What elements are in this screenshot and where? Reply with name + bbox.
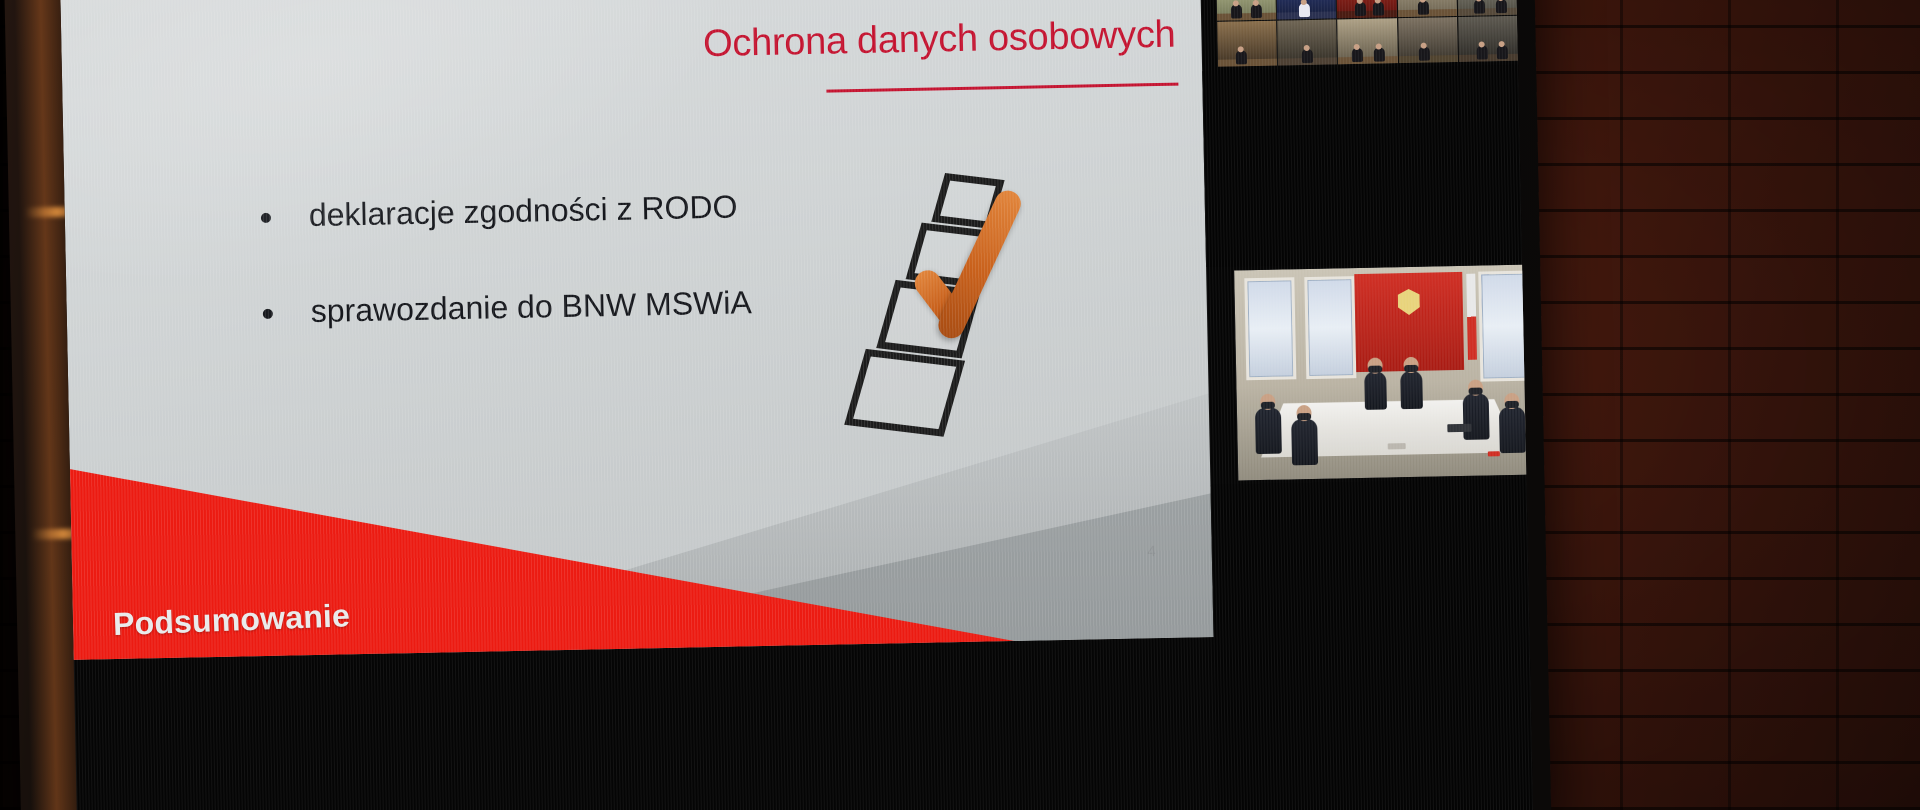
tile-person: [1299, 2, 1310, 16]
slide-title: Ochrona danych osobowych: [703, 14, 1176, 66]
bullet-point-icon: [263, 309, 273, 319]
participant-thumbnail-grid[interactable]: [1216, 0, 1518, 67]
tile-person: [1236, 50, 1247, 64]
face-mask-icon: [1505, 401, 1519, 408]
seated-officer: [1364, 371, 1387, 409]
tile-person: [1352, 48, 1363, 62]
seated-officer: [1499, 407, 1526, 454]
tile-head: [1253, 0, 1259, 6]
title-underline-rule: [826, 83, 1178, 93]
tile-person: [1355, 1, 1366, 15]
document-on-table: [1388, 443, 1406, 449]
list-item: sprawozdanie do BNW MSWiA: [262, 280, 883, 332]
participant-tile[interactable]: [1216, 0, 1276, 20]
list-item: deklaracje zgodności z RODO: [260, 184, 881, 236]
slide-number: 4: [1147, 543, 1156, 560]
seated-officer: [1291, 419, 1318, 466]
seated-officer: [1400, 371, 1423, 409]
seated-officer: [1255, 408, 1282, 455]
presentation-slide[interactable]: Ochrona danych osobowych deklaracje zgod…: [60, 0, 1215, 660]
face-mask-icon: [1297, 413, 1311, 420]
tile-person: [1302, 49, 1313, 63]
tile-head: [1478, 41, 1484, 47]
checkbox-outline-icon: [844, 349, 965, 437]
face-mask-icon: [1368, 366, 1382, 373]
participant-tile[interactable]: [1277, 19, 1337, 66]
face-mask-icon: [1469, 388, 1483, 395]
rail-empty-area-upper: [1202, 65, 1526, 267]
tile-person: [1476, 45, 1487, 59]
bullet-point-icon: [261, 213, 271, 223]
tile-desk: [1337, 10, 1396, 18]
display-screen: Ochrona danych osobowych deklaracje zgod…: [60, 0, 1533, 810]
tile-person: [1373, 1, 1384, 15]
bullet-label: deklaracje zgodności z RODO: [308, 186, 737, 235]
tile-desk: [1458, 7, 1517, 15]
participant-tile[interactable]: [1458, 15, 1518, 62]
checklist-checkmark-icon: [843, 158, 1111, 435]
laptop-icon: [1447, 424, 1471, 432]
red-folder-icon: [1488, 451, 1500, 456]
tile-desk: [1338, 56, 1397, 64]
orange-checkmark-icon: [920, 188, 1052, 340]
tile-head: [1419, 0, 1425, 2]
tile-head: [1420, 43, 1426, 49]
screenshot-stage: Ochrona danych osobowych deklaracje zgod…: [0, 0, 1920, 810]
tile-person: [1374, 47, 1385, 61]
video-participant-rail: [1200, 0, 1534, 810]
tile-person: [1231, 4, 1242, 18]
participant-tile[interactable]: [1457, 0, 1517, 15]
participant-tile[interactable]: [1398, 16, 1458, 63]
face-mask-icon: [1261, 402, 1275, 409]
tile-person: [1474, 0, 1485, 13]
tile-head: [1301, 0, 1307, 5]
bullet-label: sprawozdanie do BNW MSWiA: [310, 282, 752, 331]
flag-icon: [1466, 274, 1477, 360]
tile-person: [1496, 45, 1507, 59]
checkmark-long-stroke: [934, 186, 1025, 342]
participant-tile[interactable]: [1217, 20, 1277, 67]
slide-bullet-list: deklaracje zgodności z RODO sprawozdanie…: [260, 184, 884, 388]
face-mask-icon: [1404, 365, 1418, 372]
participant-tile[interactable]: [1276, 0, 1336, 19]
room-window: [1304, 276, 1356, 379]
tile-person: [1417, 0, 1428, 14]
institution-crest-icon: [1398, 289, 1421, 315]
tile-head: [1233, 0, 1239, 6]
tile-desk: [1459, 54, 1518, 62]
tile-desk: [1217, 12, 1276, 20]
room-window: [1244, 277, 1296, 380]
seated-officer: [1463, 393, 1490, 440]
active-speaker-tile[interactable]: [1234, 264, 1533, 480]
participant-tile[interactable]: [1338, 18, 1398, 65]
participant-tile[interactable]: [1397, 0, 1457, 17]
rail-empty-area-lower: [1210, 479, 1533, 810]
tile-person: [1251, 3, 1262, 17]
tile-head: [1498, 41, 1504, 47]
tile-person: [1418, 47, 1429, 61]
tile-desk: [1218, 59, 1277, 67]
tile-head: [1238, 46, 1244, 52]
tile-person: [1496, 0, 1507, 13]
participant-tile[interactable]: [1337, 0, 1397, 18]
